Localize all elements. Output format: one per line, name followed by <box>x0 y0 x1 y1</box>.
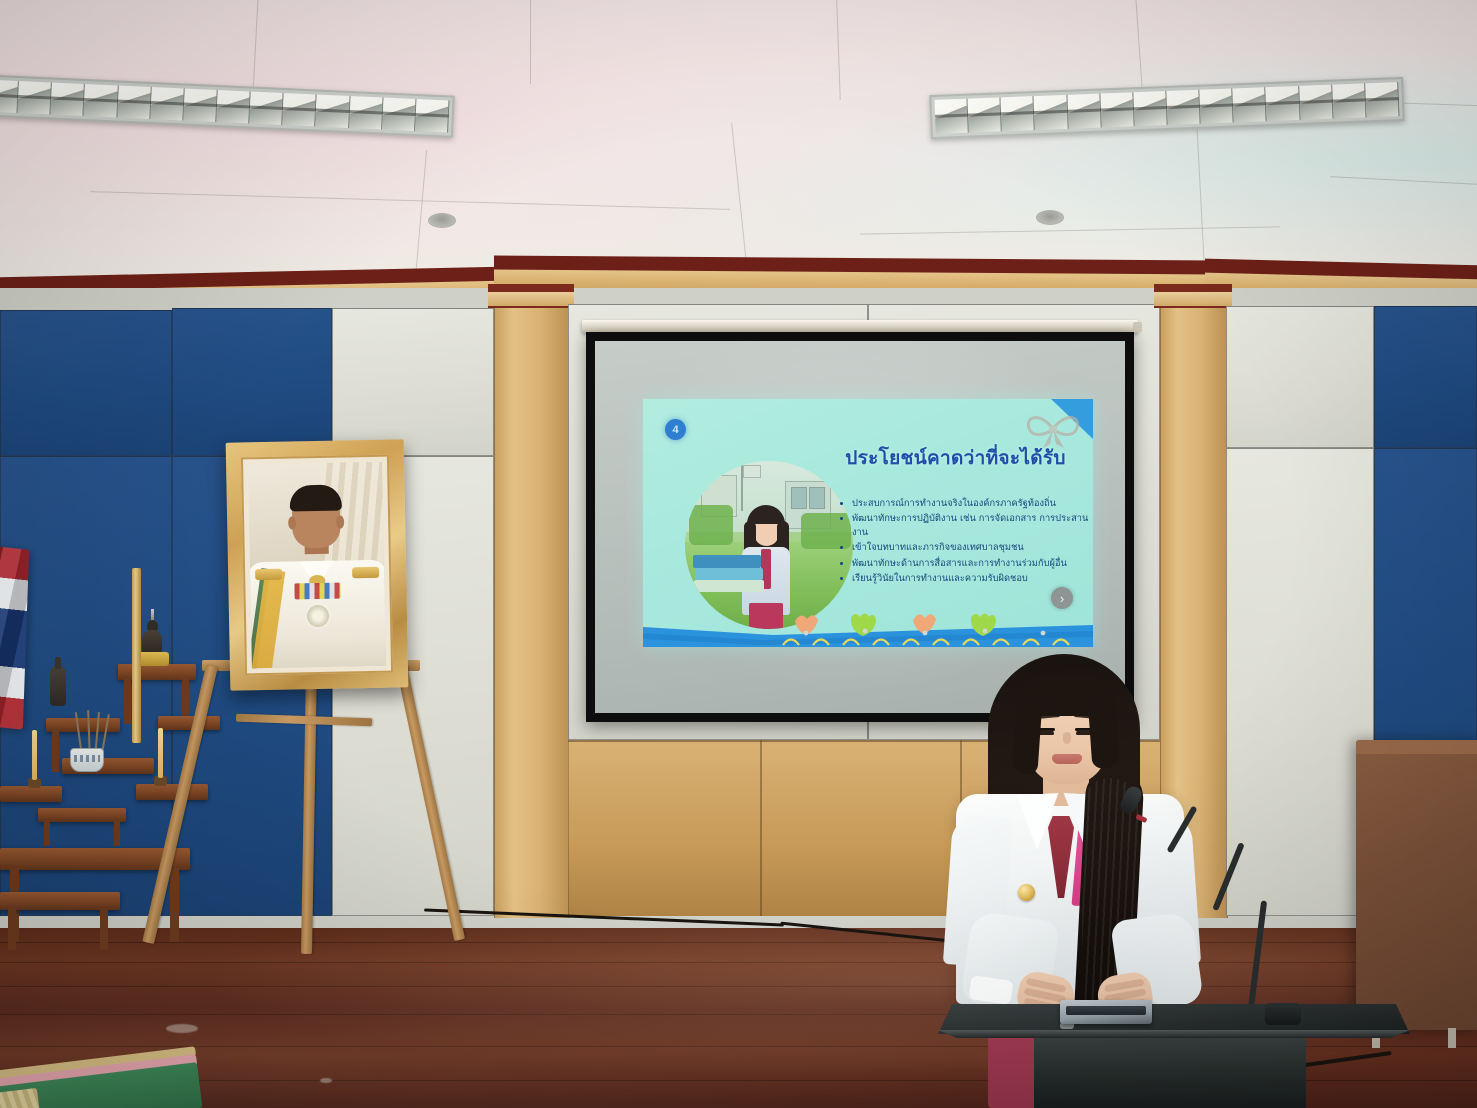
candle <box>158 728 163 778</box>
slide-title: ประโยชน์คาดว่าที่จะได้รับ <box>833 443 1078 473</box>
podium-column <box>1034 1038 1306 1108</box>
wall-panel-cream <box>1226 306 1374 448</box>
wall-panel-blue <box>0 310 172 456</box>
photo-book <box>695 568 763 580</box>
altar-front-leg <box>100 908 108 950</box>
speaker-podium <box>938 1004 1410 1108</box>
ceremonial-gold-pole <box>132 568 141 743</box>
buddha-body <box>142 630 162 654</box>
student-at-office-photo <box>685 461 853 629</box>
presenter-gold-pin <box>1018 884 1035 901</box>
blue-wave-with-tulips <box>643 613 1093 647</box>
presenter-side-hair-left <box>1011 697 1042 775</box>
incense-bowl <box>70 748 104 772</box>
list-item: พัฒนาทักษะด้านการสื่อสารและการทำงานร่วมก… <box>852 557 1089 571</box>
altar-bench-leg <box>44 820 50 846</box>
conference-hall-scene: 4 ประโยชน์คาดว่าที่จะได้รับ <box>0 0 1477 1108</box>
altar-tier-left <box>0 786 62 802</box>
column-capital <box>1154 292 1232 308</box>
list-item: เรียนรู้วินัยในการทำงานและความรับผิดชอบ <box>852 572 1089 586</box>
royal-portrait-of-the-king <box>248 462 386 669</box>
wall-panel-cream <box>332 308 494 456</box>
candle <box>32 730 37 780</box>
side-table-leg <box>1448 1028 1456 1048</box>
drape-gold-fan <box>0 1088 42 1108</box>
ceiling <box>0 0 1477 288</box>
portrait-epaulette-left <box>255 569 282 581</box>
podium-surface <box>938 1004 1410 1034</box>
list-item: พัฒนาทักษะการปฏิบัติงาน เช่น การจัดเอกสา… <box>852 512 1089 540</box>
altar-front-leg <box>8 908 16 950</box>
altar-tier-leg <box>52 730 59 772</box>
portrait-epaulette-right <box>352 567 379 579</box>
wall-column <box>494 302 570 918</box>
portrait-easel <box>196 660 426 950</box>
brown-draped-side-table <box>1356 740 1477 1030</box>
portrait-order-star-icon <box>307 605 329 627</box>
ceiling-tile-line <box>530 0 531 84</box>
recessed-downlight <box>1036 210 1064 225</box>
presenter-nose <box>1063 732 1071 744</box>
list-item: ประสบการณ์การทำงานจริงในองค์กรภาครัฐท้อง… <box>852 497 1089 511</box>
altar-table-leg <box>170 868 179 942</box>
podium-edge <box>938 1030 1410 1038</box>
recessed-downlight <box>428 213 456 228</box>
bronze-vase <box>50 666 66 706</box>
presentation-slide: 4 ประโยชน์คาดว่าที่จะได้รับ <box>643 399 1093 647</box>
altar-bench-leg <box>114 820 120 846</box>
photo-books <box>693 555 767 599</box>
column-capital <box>488 292 574 308</box>
slide-number-badge: 4 <box>665 419 686 440</box>
floor-debris <box>166 1024 198 1033</box>
photo-book <box>694 580 764 592</box>
altar-tier-leg <box>124 678 131 724</box>
slide-bullet-list: ประสบการณ์การทำงานจริงในองค์กรภาครัฐท้อง… <box>839 497 1089 587</box>
portrait-ear-left <box>288 516 296 529</box>
wall-panel-blue <box>1374 306 1477 448</box>
portrait-medal-ribbons <box>294 582 340 599</box>
royal-portrait-frame <box>226 439 409 690</box>
presenter-lips <box>1052 754 1082 764</box>
altar-bench <box>38 808 126 822</box>
microphone-base <box>1265 1003 1301 1025</box>
photo-window <box>809 487 825 509</box>
floor-debris <box>320 1078 332 1083</box>
presenter-side-hair-right <box>1088 697 1121 769</box>
list-item: เข้าใจบทบาทและภารกิจของเทศบาลชุมชน <box>852 541 1089 555</box>
photo-flag <box>743 465 761 478</box>
wall-panel-blue <box>172 308 332 456</box>
easel-leg-center <box>301 666 317 954</box>
portrait-mat <box>241 455 393 676</box>
roller-endcap <box>1133 322 1142 332</box>
photo-book <box>693 555 761 568</box>
handheld-device <box>1060 1000 1152 1024</box>
next-slide-arrow-icon[interactable]: › <box>1051 587 1073 609</box>
photo-person-fringe <box>752 511 781 524</box>
ceiling-color-cast <box>0 0 1477 288</box>
portrait-ear-right <box>336 516 344 529</box>
portrait-white-uniform <box>248 560 386 669</box>
wainscot-seam <box>760 740 762 916</box>
side-table-top <box>1356 740 1477 754</box>
photo-hedge <box>689 505 733 545</box>
